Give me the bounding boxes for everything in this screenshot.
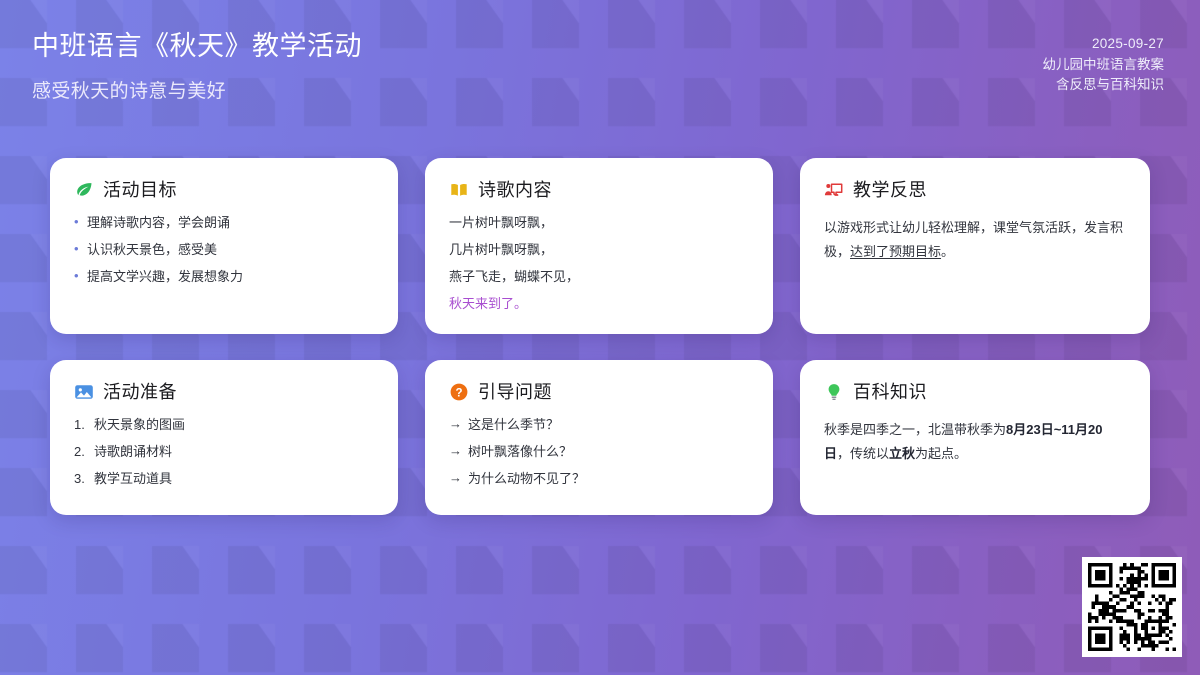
preparation-list: 秋天景象的图画诗歌朗诵材料教学互动道具	[74, 418, 374, 485]
card-title: 活动准备	[103, 383, 177, 401]
card-paragraph: 秋季是四季之一，北温带秋季为8月23日~11月20日，传统以立秋为起点。	[824, 418, 1126, 466]
paragraph-segment: 秋季是四季之一，北温带秋季为	[824, 422, 1006, 437]
card-header: 百科知识	[824, 382, 1126, 402]
paragraph-segment: 达到了预期目标	[850, 244, 941, 259]
list-item: 为什么动物不见了？	[449, 472, 749, 485]
teacher-presentation-icon	[824, 180, 844, 200]
paragraph-segment: 为起点。	[915, 446, 967, 461]
poem-line: 一片树叶飘呀飘，	[449, 216, 749, 229]
paragraph-segment: ，传统以	[837, 446, 889, 461]
card-grid: 活动目标理解诗歌内容，学会朗诵认识秋天景色，感受美提高文学兴趣，发展想象力诗歌内…	[50, 158, 1150, 515]
card-header: 活动目标	[74, 180, 374, 200]
poem-line: 燕子飞走，蝴蝶不见，	[449, 270, 749, 283]
picture-icon	[74, 382, 94, 402]
card-title: 诗歌内容	[478, 181, 552, 199]
header-left: 中班语言《秋天》教学活动 感受秋天的诗意与美好	[32, 26, 362, 103]
card-poem-content: 诗歌内容一片树叶飘呀飘，几片树叶飘呀飘，燕子飞走，蝴蝶不见，秋天来到了。	[425, 158, 773, 334]
page-title: 中班语言《秋天》教学活动	[32, 30, 362, 64]
card-header: 活动准备	[74, 382, 374, 402]
paragraph-segment: 立秋	[889, 446, 915, 461]
list-item: 理解诗歌内容，学会朗诵	[74, 216, 374, 229]
question-mark-icon: ?	[449, 382, 469, 402]
list-item: 诗歌朗诵材料	[74, 445, 374, 458]
card-guiding-questions: ?引导问题这是什么季节？树叶飘落像什么？为什么动物不见了？	[425, 360, 773, 515]
open-book-icon	[449, 180, 469, 200]
card-teaching-reflection: 教学反思以游戏形式让幼儿轻松理解，课堂气氛活跃，发言积极，达到了预期目标。	[800, 158, 1150, 334]
poem-body: 一片树叶飘呀飘，几片树叶飘呀飘，燕子飞走，蝴蝶不见，秋天来到了。	[449, 216, 749, 310]
list-item: 这是什么季节？	[449, 418, 749, 431]
qr-code-image	[1088, 563, 1176, 651]
svg-text:?: ?	[455, 387, 462, 399]
qr-code[interactable]	[1082, 557, 1182, 657]
card-header: ?引导问题	[449, 382, 749, 402]
leaf-icon	[74, 180, 94, 200]
poem-line: 秋天来到了。	[449, 297, 749, 310]
lightbulb-icon	[824, 382, 844, 402]
card-header: 教学反思	[824, 180, 1126, 200]
card-title: 引导问题	[478, 383, 552, 401]
page-subtitle: 感受秋天的诗意与美好	[32, 76, 362, 103]
card-title: 教学反思	[853, 181, 927, 199]
goal-list: 理解诗歌内容，学会朗诵认识秋天景色，感受美提高文学兴趣，发展想象力	[74, 216, 374, 283]
paragraph-segment: 。	[941, 244, 954, 259]
meta-date: 2025-09-27	[1043, 34, 1165, 55]
card-paragraph: 以游戏形式让幼儿轻松理解，课堂气氛活跃，发言积极，达到了预期目标。	[824, 216, 1126, 264]
card-activity-goals: 活动目标理解诗歌内容，学会朗诵认识秋天景色，感受美提高文学兴趣，发展想象力	[50, 158, 398, 334]
card-header: 诗歌内容	[449, 180, 749, 200]
poem-line: 几片树叶飘呀飘，	[449, 243, 749, 256]
header-meta: 2025-09-27 幼儿园中班语言教案 含反思与百科知识	[1043, 26, 1165, 96]
list-item: 提高文学兴趣，发展想象力	[74, 270, 374, 283]
card-title: 活动目标	[103, 181, 177, 199]
meta-category: 幼儿园中班语言教案	[1043, 55, 1165, 76]
list-item: 秋天景象的图画	[74, 418, 374, 431]
list-item: 树叶飘落像什么？	[449, 445, 749, 458]
meta-note: 含反思与百科知识	[1043, 75, 1165, 96]
list-item: 教学互动道具	[74, 472, 374, 485]
list-item: 认识秋天景色，感受美	[74, 243, 374, 256]
card-activity-preparation: 活动准备秋天景象的图画诗歌朗诵材料教学互动道具	[50, 360, 398, 515]
card-title: 百科知识	[853, 383, 927, 401]
card-encyclopedia-knowledge: 百科知识秋季是四季之一，北温带秋季为8月23日~11月20日，传统以立秋为起点。	[800, 360, 1150, 515]
question-list: 这是什么季节？树叶飘落像什么？为什么动物不见了？	[449, 418, 749, 485]
slide-header: 中班语言《秋天》教学活动 感受秋天的诗意与美好 2025-09-27 幼儿园中班…	[0, 0, 1200, 140]
